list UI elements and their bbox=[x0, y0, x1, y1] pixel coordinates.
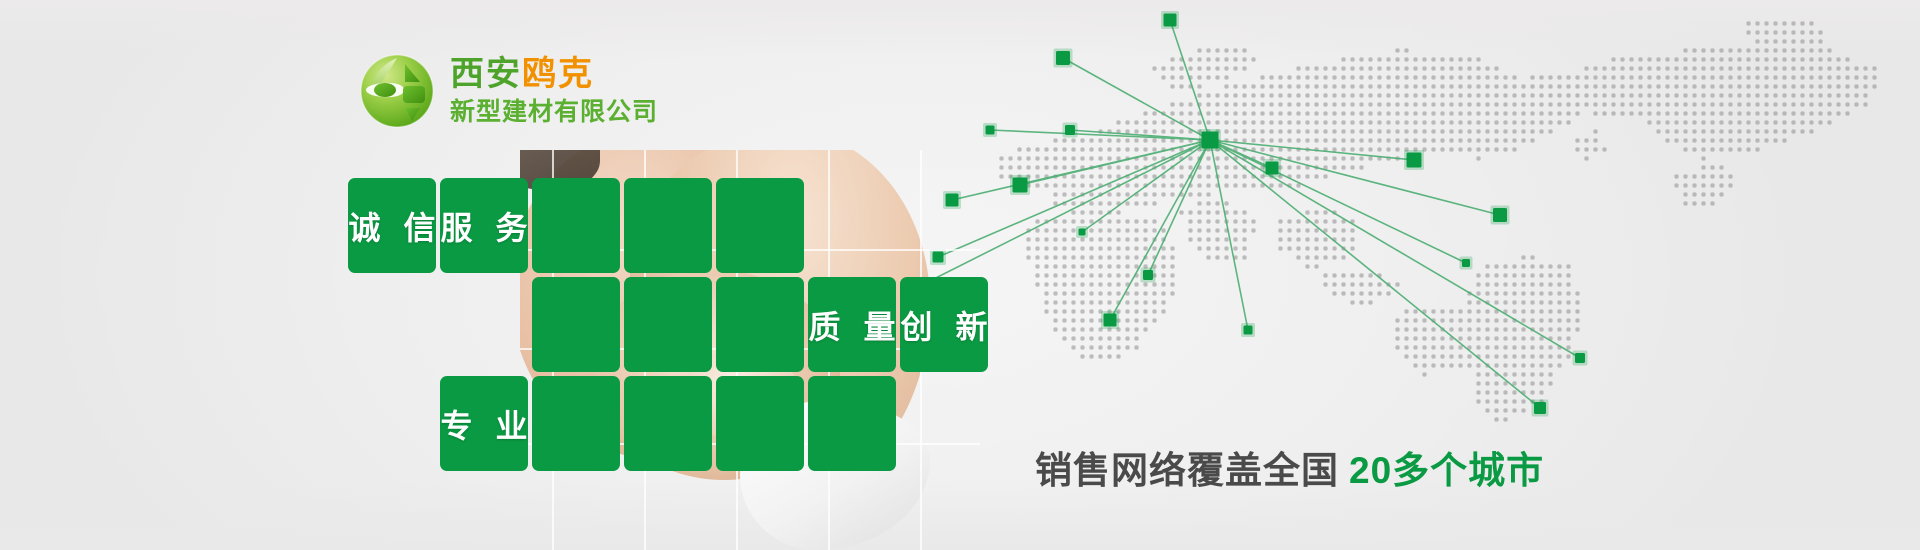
network-node-marker bbox=[1534, 402, 1546, 414]
company-logo[interactable]: 西安鸥克 新型建材有限公司 bbox=[358, 52, 658, 130]
network-node-marker bbox=[1244, 326, 1253, 335]
value-tile-blank bbox=[624, 277, 712, 372]
value-tile-labeled: 创 新 bbox=[900, 277, 988, 372]
value-tile-label: 专 业 bbox=[434, 401, 535, 447]
network-connection-line bbox=[1148, 140, 1210, 275]
value-tile-blank bbox=[808, 376, 896, 471]
value-tile-label: 质 量 bbox=[802, 302, 903, 348]
sales-network-tagline: 销售网络覆盖全国20多个城市 bbox=[1035, 440, 1544, 494]
value-tile-labeled: 专 业 bbox=[440, 376, 528, 471]
network-node-marker bbox=[1575, 353, 1585, 363]
value-tile-blank bbox=[532, 178, 620, 273]
value-tile-blank bbox=[532, 376, 620, 471]
network-node-marker bbox=[1065, 125, 1075, 135]
network-node-marker bbox=[1407, 153, 1422, 168]
logo-wordmark: 西安鸥克 新型建材有限公司 bbox=[450, 57, 658, 125]
value-tile-labeled: 服 务 bbox=[440, 178, 528, 273]
network-node-marker bbox=[1143, 270, 1153, 280]
network-connection-line bbox=[1210, 140, 1540, 408]
value-tile-label: 服 务 bbox=[434, 203, 535, 249]
value-tile-blank bbox=[716, 178, 804, 273]
network-node-marker bbox=[1493, 208, 1507, 222]
value-tile-blank bbox=[716, 277, 804, 372]
network-connection-line bbox=[1210, 140, 1248, 330]
logo-city-text: 西安 bbox=[450, 55, 522, 93]
network-connection-line bbox=[1063, 58, 1210, 140]
company-leaf-globe-emblem-icon bbox=[358, 52, 436, 130]
value-tile-blank bbox=[624, 376, 712, 471]
network-node-marker bbox=[986, 126, 995, 135]
network-node-marker bbox=[1056, 51, 1070, 65]
value-tile-mosaic: 诚 信服 务质 量创 新专 业 bbox=[348, 178, 1098, 508]
world-map-dot-matrix bbox=[999, 21, 1876, 421]
value-tile-label: 创 新 bbox=[894, 302, 995, 348]
network-node-marker bbox=[1462, 259, 1470, 267]
value-tile-blank bbox=[532, 277, 620, 372]
network-node-marker bbox=[1164, 14, 1177, 27]
network-connection-line bbox=[1110, 140, 1210, 320]
logo-brand-text: 鸥克 bbox=[522, 55, 594, 93]
value-tile-labeled: 质 量 bbox=[808, 277, 896, 372]
tagline-accent-text: 20多个城市 bbox=[1349, 450, 1544, 491]
value-tile-label: 诚 信 bbox=[342, 203, 443, 249]
network-node-marker bbox=[1266, 162, 1279, 175]
network-connection-line bbox=[1210, 140, 1414, 160]
value-tile-blank bbox=[716, 376, 804, 471]
company-banner: 西安鸥克 新型建材有限公司 诚 信服 务质 量创 新专 业 bbox=[0, 0, 1920, 550]
network-node-marker bbox=[1104, 314, 1117, 327]
value-tile-labeled: 诚 信 bbox=[348, 178, 436, 273]
logo-line-2: 新型建材有限公司 bbox=[450, 100, 658, 125]
network-hub-marker bbox=[1202, 132, 1219, 149]
value-tile-blank bbox=[624, 178, 712, 273]
logo-line-1: 西安鸥克 bbox=[450, 57, 658, 91]
